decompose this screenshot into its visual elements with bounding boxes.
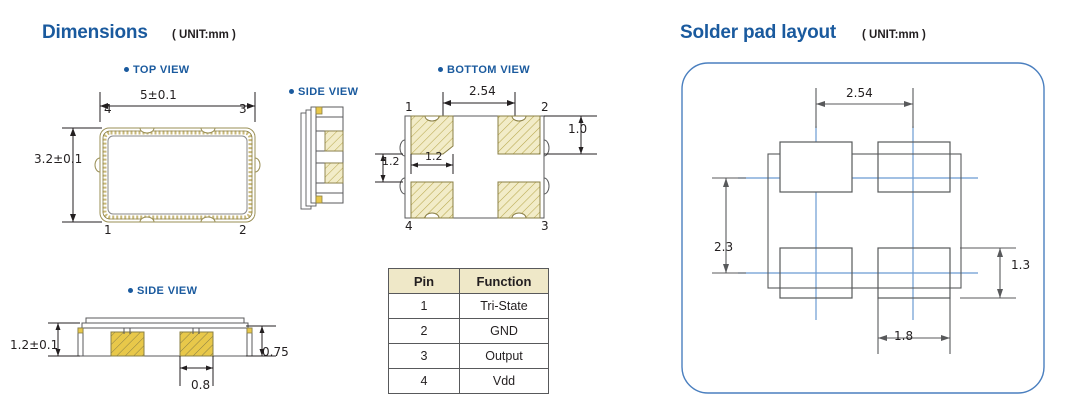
side-view-bottom-body: [78, 318, 252, 356]
side-view-bottom-drawing: [52, 310, 312, 410]
bottom-view-pad-height-value: 1.0: [568, 122, 587, 136]
bullet-icon: [289, 89, 294, 94]
top-view-pin-3: 3: [239, 102, 247, 116]
side-view-bottom-pad-1: [111, 332, 144, 356]
side-view-right-pad-1: [325, 131, 343, 151]
dimensions-panel: Dimensions ( UNIT:mm ) TOP VIEW: [0, 0, 660, 420]
bottom-view-pad-width-value: 1.2: [425, 150, 443, 163]
bullet-icon: [128, 288, 133, 293]
side-view-bottom-label: SIDE VIEW: [128, 285, 197, 297]
table-cell-function: Tri-State: [460, 294, 549, 319]
top-view-height-dimension: [62, 128, 102, 222]
table-header-pin: Pin: [389, 269, 460, 294]
side-view-height-value: 1.2±0.1: [10, 338, 58, 352]
top-view-pin-1: 1: [104, 223, 112, 237]
solder-pad-vertical-pitch-value: 2.3: [714, 240, 733, 254]
side-view-right-pad-2: [325, 163, 343, 183]
top-view-width-value: 5±0.1: [140, 88, 177, 102]
top-view-width-dimension: [100, 92, 255, 122]
table-header-function: Function: [460, 269, 549, 294]
solder-pad-1: [780, 142, 852, 192]
top-view-label: TOP VIEW: [124, 64, 190, 76]
solder-pad-drawing: [668, 58, 1068, 408]
top-view-package-body: [95, 128, 260, 222]
table-row: 3 Output: [389, 344, 549, 369]
side-view-right-label: SIDE VIEW: [289, 86, 358, 98]
bottom-view-pitch-value: 2.54: [469, 84, 496, 98]
side-view-body-value: 0.75: [262, 345, 289, 359]
side-view-pad-value: 0.8: [191, 378, 210, 392]
side-view-right-drawing: [295, 105, 385, 220]
solder-pad-width-value: 1.8: [894, 329, 913, 343]
side-view-bottom-pad-2: [180, 332, 213, 356]
table-cell-function: Vdd: [460, 369, 549, 394]
bottom-view-pin-4: 4: [405, 219, 413, 233]
solder-pad-height-value: 1.3: [1011, 258, 1030, 272]
solder-pad-layout-panel: Solder pad layout ( UNIT:mm ): [660, 0, 1080, 420]
table-cell-pin: 2: [389, 319, 460, 344]
bottom-view-pad-2: [498, 116, 540, 154]
table-row: 4 Vdd: [389, 369, 549, 394]
bottom-view-label: BOTTOM VIEW: [438, 64, 530, 76]
table-cell-function: GND: [460, 319, 549, 344]
table-cell-pin: 1: [389, 294, 460, 319]
pin-function-table: Pin Function 1 Tri-State 2 GND 3 Output …: [388, 268, 549, 394]
bottom-view-pin-3: 3: [541, 219, 549, 233]
table-cell-pin: 4: [389, 369, 460, 394]
dimensions-unit-label: ( UNIT:mm ): [172, 29, 236, 41]
bottom-view-pin-2: 2: [541, 100, 549, 114]
bullet-icon: [438, 67, 443, 72]
top-view-pin-4: 4: [104, 102, 112, 116]
top-view-height-value: 3.2±0.1: [34, 152, 82, 166]
table-row: 1 Tri-State: [389, 294, 549, 319]
bullet-icon: [124, 67, 129, 72]
solder-pad-title: Solder pad layout: [680, 22, 836, 44]
top-view-pin-2: 2: [239, 223, 247, 237]
bottom-view-pad-gap-value: 1.2: [382, 155, 400, 168]
table-cell-function: Output: [460, 344, 549, 369]
dimensions-title: Dimensions: [42, 22, 148, 44]
solder-pad-pitch-value: 2.54: [846, 86, 873, 100]
table-cell-pin: 3: [389, 344, 460, 369]
table-row: 2 GND: [389, 319, 549, 344]
bottom-view-pin-1: 1: [405, 100, 413, 114]
bottom-view-drawing: [385, 78, 615, 258]
table-header-row: Pin Function: [389, 269, 549, 294]
bottom-view-pad-1: [411, 116, 453, 154]
solder-pad-unit-label: ( UNIT:mm ): [862, 29, 926, 41]
solder-pad-frame: [682, 63, 1044, 393]
